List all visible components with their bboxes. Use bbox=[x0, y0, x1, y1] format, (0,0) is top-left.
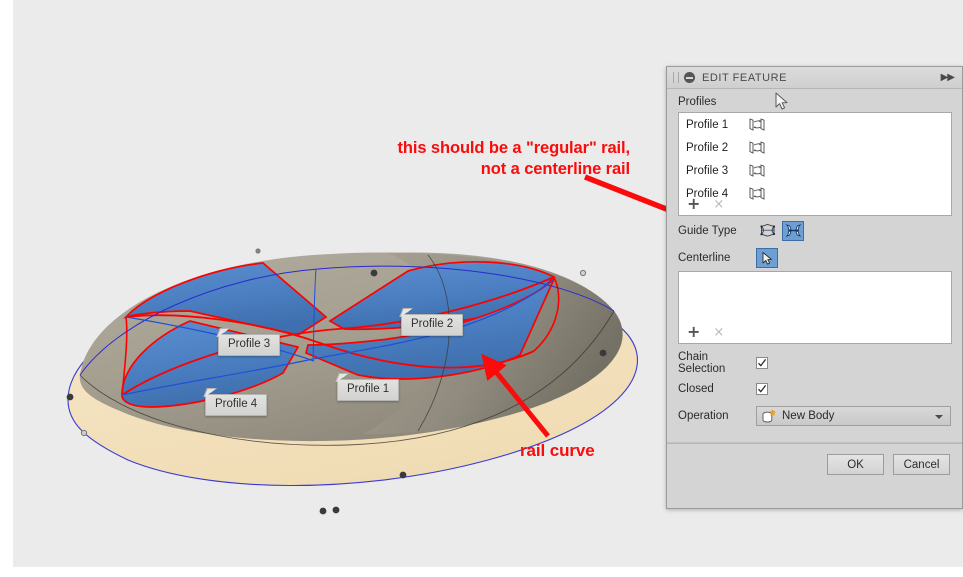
operation-row: Operation New Body bbox=[667, 402, 962, 430]
add-centerline-button[interactable]: + bbox=[687, 325, 700, 339]
dialog-body: Profiles Profile 1 bbox=[667, 89, 962, 485]
operation-value: New Body bbox=[782, 410, 834, 422]
operation-label: Operation bbox=[678, 410, 756, 422]
dialog-footer: OK Cancel bbox=[667, 443, 962, 485]
control-point[interactable] bbox=[580, 270, 585, 275]
list-item[interactable]: Profile 3 bbox=[679, 159, 951, 182]
control-point[interactable] bbox=[67, 394, 74, 401]
edit-feature-dialog[interactable]: EDIT FEATURE ▶▶ Profiles Profile 1 bbox=[666, 66, 963, 509]
profile-item-label: Profile 3 bbox=[686, 165, 748, 177]
loft-profile-icon bbox=[748, 140, 766, 155]
cursor-select-icon[interactable] bbox=[756, 248, 778, 268]
centerline-guide-icon[interactable] bbox=[782, 221, 804, 241]
centerline-label: Centerline bbox=[678, 252, 756, 264]
remove-centerline-button[interactable]: × bbox=[713, 326, 724, 339]
rails-guide-icon[interactable] bbox=[756, 221, 778, 241]
remove-profile-button[interactable]: × bbox=[713, 198, 724, 211]
callout-label: Profile 3 bbox=[228, 338, 270, 350]
callout-profile-2[interactable]: Profile 2 bbox=[401, 314, 463, 336]
annotation-line-1: this should be a "regular" rail, bbox=[343, 138, 630, 159]
chevron-double-right-icon[interactable]: ▶▶ bbox=[941, 72, 954, 83]
drag-grip-icon[interactable] bbox=[673, 72, 679, 83]
centerline-listbox[interactable]: + × bbox=[678, 271, 952, 344]
chain-selection-label: Chain Selection bbox=[678, 351, 756, 375]
profiles-list-tools: + × bbox=[679, 193, 959, 215]
centerline-row: Centerline bbox=[667, 245, 962, 271]
callout-profile-3[interactable]: Profile 3 bbox=[218, 334, 280, 356]
control-point[interactable] bbox=[600, 350, 607, 357]
dialog-title-bar[interactable]: EDIT FEATURE ▶▶ bbox=[667, 67, 962, 89]
guide-type-row: Guide Type bbox=[667, 216, 962, 245]
chain-selection-checkbox[interactable] bbox=[756, 357, 768, 369]
control-point[interactable] bbox=[320, 508, 327, 515]
chevron-down-icon[interactable] bbox=[935, 415, 943, 419]
loft-profile-icon bbox=[748, 163, 766, 178]
profile-item-label: Profile 2 bbox=[686, 142, 748, 154]
callout-label: Profile 1 bbox=[347, 383, 389, 395]
cancel-button[interactable]: Cancel bbox=[893, 454, 950, 475]
list-item[interactable]: Profile 1 bbox=[679, 113, 951, 136]
minus-circle-icon[interactable] bbox=[684, 72, 695, 83]
operation-dropdown[interactable]: New Body bbox=[756, 406, 951, 426]
control-point[interactable] bbox=[333, 507, 340, 514]
ok-button[interactable]: OK bbox=[827, 454, 884, 475]
control-point[interactable] bbox=[81, 430, 86, 435]
chain-selection-row: Chain Selection bbox=[667, 350, 962, 376]
profiles-label: Profiles bbox=[667, 89, 962, 112]
callout-label: Profile 4 bbox=[215, 398, 257, 410]
annotation-rail-curve: rail curve bbox=[520, 441, 595, 461]
add-profile-button[interactable]: + bbox=[687, 197, 700, 211]
profiles-listbox[interactable]: Profile 1 Profile 2 bbox=[678, 112, 952, 216]
guide-type-label: Guide Type bbox=[678, 225, 756, 237]
closed-label: Closed bbox=[678, 383, 756, 395]
annotation-line-2: not a centerline rail bbox=[343, 159, 630, 180]
callout-profile-1[interactable]: Profile 1 bbox=[337, 379, 399, 401]
callout-profile-4[interactable]: Profile 4 bbox=[205, 394, 267, 416]
mouse-pointer-icon bbox=[774, 92, 790, 112]
closed-checkbox[interactable] bbox=[756, 383, 768, 395]
centerline-list-tools: + × bbox=[679, 321, 959, 343]
screen: Profile 1 Profile 2 Profile 3 Profile 4 … bbox=[0, 0, 963, 577]
control-point[interactable] bbox=[400, 472, 407, 479]
loft-profile-icon bbox=[748, 117, 766, 132]
annotation-rail-note: this should be a "regular" rail, not a c… bbox=[343, 138, 630, 180]
list-item[interactable]: Profile 2 bbox=[679, 136, 951, 159]
control-point[interactable] bbox=[255, 248, 260, 253]
control-point[interactable] bbox=[371, 270, 378, 277]
callout-label: Profile 2 bbox=[411, 318, 453, 330]
closed-row: Closed bbox=[667, 376, 962, 402]
dialog-title: EDIT FEATURE bbox=[702, 72, 787, 84]
new-body-icon bbox=[761, 409, 776, 424]
profile-item-label: Profile 1 bbox=[686, 119, 748, 131]
